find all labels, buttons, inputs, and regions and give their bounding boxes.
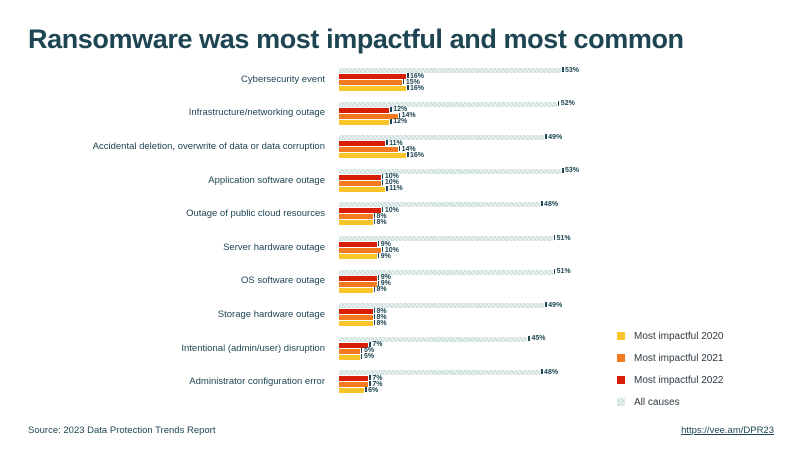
category-label: Infrastructure/networking outage: [28, 102, 325, 126]
bar-group: 48%10%8%8%: [339, 202, 772, 226]
bar-y2020[interactable]: [339, 153, 406, 158]
bar-value-label: 8%: [374, 318, 387, 330]
bar-all[interactable]: [339, 270, 553, 275]
bar-row: 11%: [339, 187, 772, 192]
bar-value-label: 12%: [390, 116, 407, 128]
bar-y2021[interactable]: [339, 282, 377, 287]
bar-y2022[interactable]: [339, 242, 377, 247]
category-label: Storage hardware outage: [28, 303, 325, 327]
bar-value-label: 11%: [386, 183, 403, 195]
bar-group: 49%11%14%16%: [339, 135, 772, 159]
chart-legend: Most impactful 2020Most impactful 2021Mo…: [617, 325, 787, 413]
bar-value-label: 9%: [378, 251, 391, 263]
bar-y2020[interactable]: [339, 288, 373, 293]
bar-row: 10%: [339, 181, 772, 186]
bar-row: 10%: [339, 208, 772, 213]
legend-swatch-icon: [617, 354, 625, 362]
bar-row: 12%: [339, 120, 772, 125]
bar-y2021[interactable]: [339, 315, 373, 320]
legend-item-y2022[interactable]: Most impactful 2022: [617, 369, 787, 391]
bar-all[interactable]: [339, 236, 553, 241]
bar-row: 53%: [339, 169, 772, 174]
bar-row: 8%: [339, 309, 772, 314]
bar-row: 51%: [339, 270, 772, 275]
category-label: Cybersecurity event: [28, 68, 325, 92]
chart-group: Outage of public cloud resources48%10%8%…: [28, 202, 772, 226]
bar-all[interactable]: [339, 337, 527, 342]
legend-item-y2020[interactable]: Most impactful 2020: [617, 325, 787, 347]
bar-y2022[interactable]: [339, 141, 385, 146]
bar-value-label: 6%: [365, 385, 378, 397]
bar-y2022[interactable]: [339, 175, 381, 180]
bar-group: 51%9%9%8%: [339, 270, 772, 294]
bar-group: 51%9%10%9%: [339, 236, 772, 260]
bar-row: 51%: [339, 236, 772, 241]
bar-all[interactable]: [339, 202, 540, 207]
report-link[interactable]: https://vee.am/DPR23: [681, 425, 774, 436]
bar-row: 9%: [339, 276, 772, 281]
bar-group: 53%16%15%16%: [339, 68, 772, 92]
category-label: Administrator configuration error: [28, 370, 325, 394]
bar-row: 16%: [339, 86, 772, 91]
bar-row: 8%: [339, 220, 772, 225]
bar-group: 49%8%8%8%: [339, 303, 772, 327]
bar-row: 16%: [339, 153, 772, 158]
bar-row: 48%: [339, 202, 772, 207]
chart-group: Storage hardware outage49%8%8%8%: [28, 303, 772, 327]
legend-swatch-icon: [617, 398, 625, 406]
chart-group: Application software outage53%10%10%11%: [28, 169, 772, 193]
bar-value-label: 16%: [407, 150, 424, 162]
category-label: Application software outage: [28, 169, 325, 193]
bar-row: 14%: [339, 147, 772, 152]
bar-y2020[interactable]: [339, 120, 389, 125]
legend-swatch-icon: [617, 332, 625, 340]
bar-row: 9%: [339, 282, 772, 287]
bar-all[interactable]: [339, 135, 544, 140]
bar-all[interactable]: [339, 68, 561, 73]
legend-item-all[interactable]: All causes: [617, 391, 787, 413]
bar-y2021[interactable]: [339, 349, 360, 354]
bar-row: 49%: [339, 135, 772, 140]
bar-y2020[interactable]: [339, 321, 373, 326]
bar-y2021[interactable]: [339, 214, 373, 219]
bar-y2022[interactable]: [339, 376, 368, 381]
bar-y2022[interactable]: [339, 309, 373, 314]
bar-y2020[interactable]: [339, 220, 373, 225]
bar-row: 10%: [339, 175, 772, 180]
bar-row: 49%: [339, 303, 772, 308]
bar-y2020[interactable]: [339, 86, 406, 91]
legend-swatch-icon: [617, 376, 625, 384]
bar-row: 8%: [339, 315, 772, 320]
chart-group: Accidental deletion, overwrite of data o…: [28, 135, 772, 159]
page-title: Ransomware was most impactful and most c…: [28, 24, 684, 55]
category-label: Accidental deletion, overwrite of data o…: [28, 135, 325, 159]
legend-label: Most impactful 2020: [634, 331, 724, 342]
legend-item-y2021[interactable]: Most impactful 2021: [617, 347, 787, 369]
bar-value-label: 5%: [361, 351, 374, 363]
bar-y2022[interactable]: [339, 108, 389, 113]
bar-y2022[interactable]: [339, 276, 377, 281]
legend-label: All causes: [634, 397, 680, 408]
bar-y2020[interactable]: [339, 388, 364, 393]
bar-y2021[interactable]: [339, 382, 368, 387]
bar-group: 52%12%14%12%: [339, 102, 772, 126]
bar-row: 8%: [339, 288, 772, 293]
bar-row: 53%: [339, 68, 772, 73]
bar-all[interactable]: [339, 303, 544, 308]
bar-y2020[interactable]: [339, 187, 385, 192]
category-label: Intentional (admin/user) disruption: [28, 337, 325, 361]
bar-group: 53%10%10%11%: [339, 169, 772, 193]
bar-all[interactable]: [339, 169, 561, 174]
bar-y2021[interactable]: [339, 114, 398, 119]
bar-row: 10%: [339, 248, 772, 253]
bar-value-label: 8%: [374, 217, 387, 229]
bar-row: 9%: [339, 242, 772, 247]
chart-group: Server hardware outage51%9%10%9%: [28, 236, 772, 260]
category-label: OS software outage: [28, 270, 325, 294]
bar-value-label: 8%: [374, 284, 387, 296]
bar-y2021[interactable]: [339, 80, 402, 85]
bar-all[interactable]: [339, 102, 557, 107]
bar-row: 15%: [339, 80, 772, 85]
legend-label: Most impactful 2022: [634, 375, 724, 386]
legend-label: Most impactful 2021: [634, 353, 724, 364]
chart-group: OS software outage51%9%9%8%: [28, 270, 772, 294]
bar-y2020[interactable]: [339, 254, 377, 259]
category-label: Outage of public cloud resources: [28, 202, 325, 226]
chart-group: Cybersecurity event53%16%15%16%: [28, 68, 772, 92]
source-note: Source: 2023 Data Protection Trends Repo…: [28, 425, 215, 436]
bar-y2021[interactable]: [339, 181, 381, 186]
bar-y2022[interactable]: [339, 74, 406, 79]
bar-y2021[interactable]: [339, 248, 381, 253]
bar-row: 8%: [339, 214, 772, 219]
bar-row: 9%: [339, 254, 772, 259]
bar-y2020[interactable]: [339, 355, 360, 360]
chart-group: Infrastructure/networking outage52%12%14…: [28, 102, 772, 126]
bar-value-label: 16%: [407, 83, 424, 95]
category-label: Server hardware outage: [28, 236, 325, 260]
bar-y2021[interactable]: [339, 147, 398, 152]
